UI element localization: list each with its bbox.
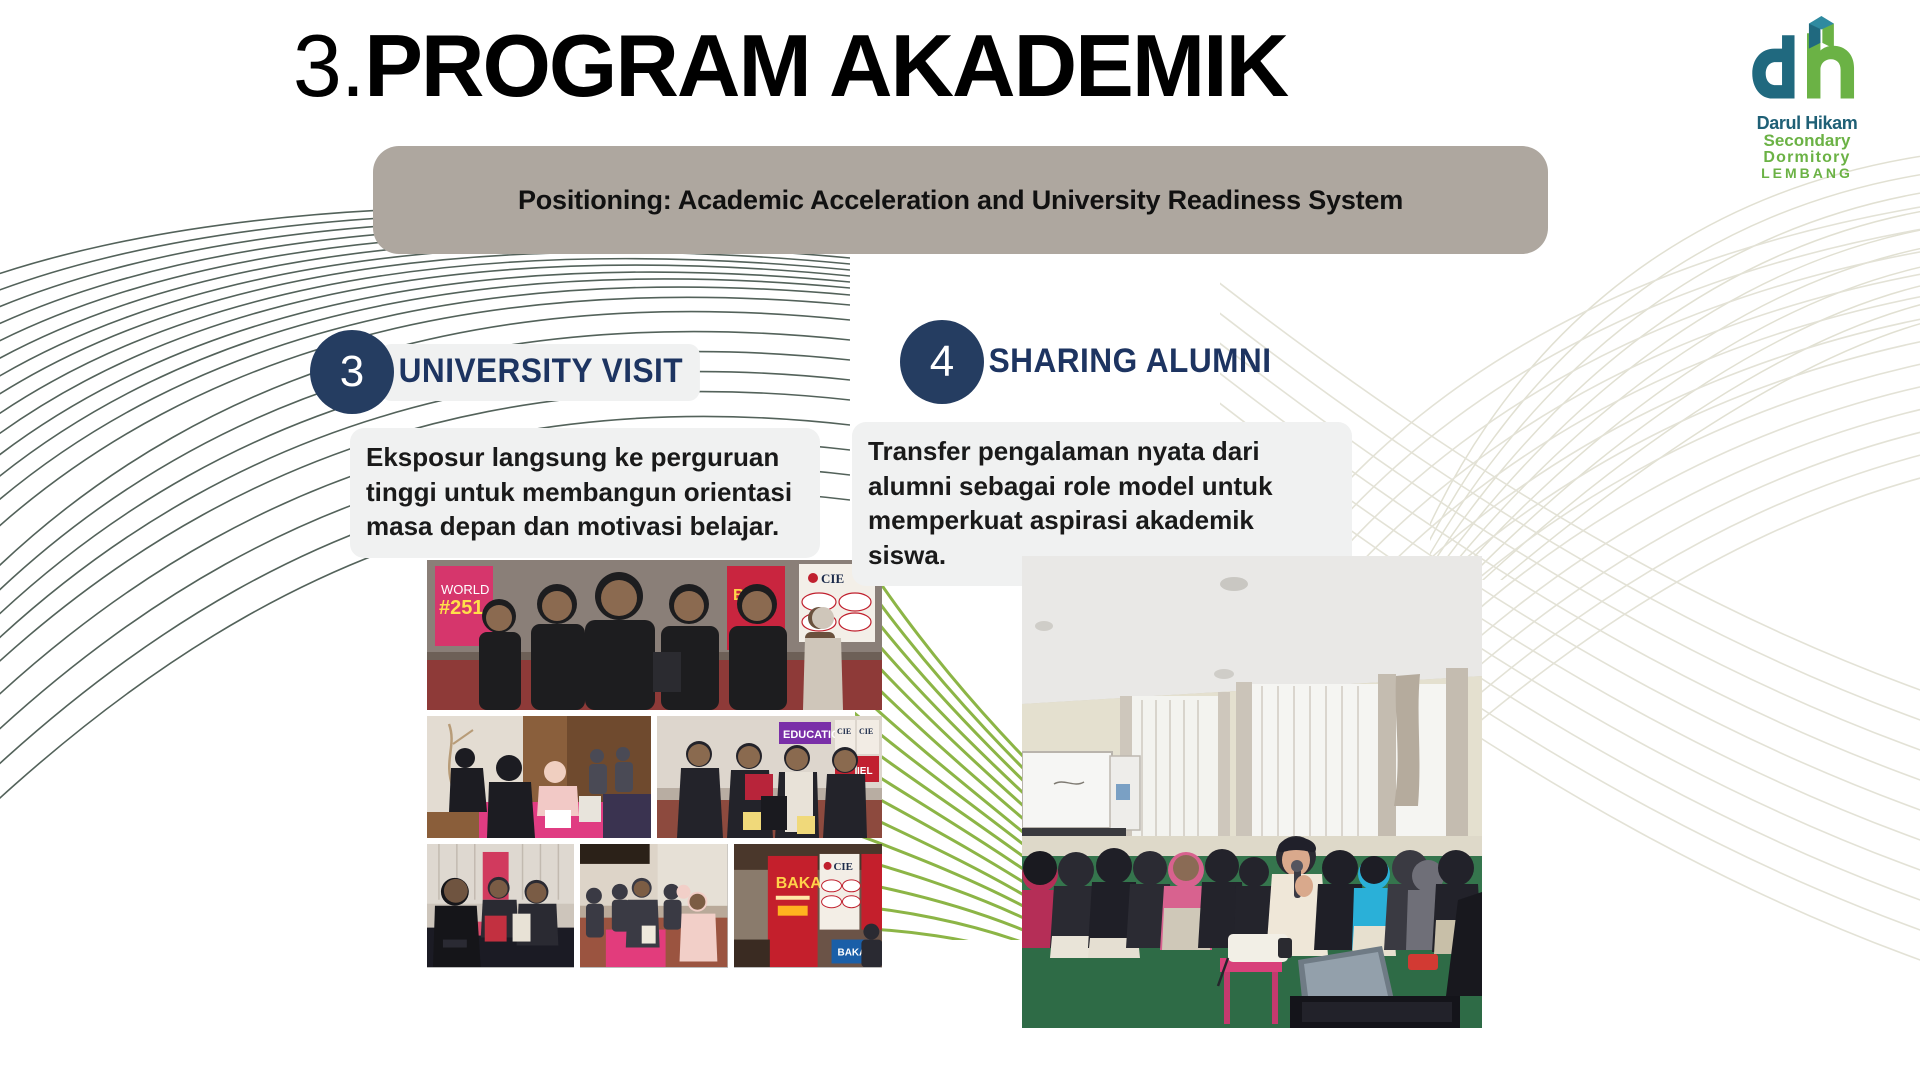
photo-students-with-cie-tote-bags-education-banner: EDUCATION CIE CIE IEL: [657, 716, 882, 838]
section-number-badge-3: 3: [310, 330, 394, 414]
section-4-header: 4 SHARING ALUMNI: [900, 320, 1500, 404]
title-number: 3.: [293, 16, 364, 115]
section-title-university-visit: UNIVERSITY VISIT: [380, 344, 700, 401]
svg-text:#251: #251: [439, 597, 484, 619]
svg-text:CIE: CIE: [821, 571, 844, 586]
logo-line-secondary: Secondary: [1757, 132, 1858, 149]
logo-line-darul-hikam: Darul Hikam: [1757, 114, 1858, 132]
photo-registration-desk-pink-tablecloth: [427, 716, 651, 838]
positioning-banner: Positioning: Academic Acceleration and U…: [373, 146, 1548, 254]
school-logo: Darul Hikam Secondary Dormitory LEMBANG: [1732, 16, 1882, 180]
page-title: 3.PROGRAM AKADEMIK: [0, 22, 1580, 110]
slide-root: 3.PROGRAM AKADEMIK Positioning: Academic…: [0, 0, 1920, 1080]
section-3-header: 3 UNIVERSITY VISIT: [310, 330, 870, 414]
title-main: PROGRAM AKADEMIK: [364, 16, 1287, 115]
darul-hikam-dh-monogram-icon: [1748, 16, 1866, 112]
section-university-visit: 3 UNIVERSITY VISIT Eksposur langsung ke …: [310, 330, 870, 558]
collage-row-3: BAKAT CIE BAKAT: [427, 844, 882, 968]
collage-row-1: WORLD #251 BA CIE: [427, 560, 882, 710]
svg-text:CIE: CIE: [837, 727, 851, 736]
section-number-badge-4: 4: [900, 320, 984, 404]
university-visit-photo-collage: WORLD #251 BA CIE: [427, 560, 882, 974]
svg-text:CIE: CIE: [833, 861, 852, 873]
collage-row-2: EDUCATION CIE CIE IEL: [427, 716, 882, 838]
logo-line-dormitory: Dormitory: [1757, 150, 1858, 166]
positioning-banner-text: Positioning: Academic Acceleration and U…: [492, 185, 1429, 216]
section-sharing-alumni: 4 SHARING ALUMNI Transfer pengalaman nya…: [900, 320, 1500, 586]
photo-bakat-red-banner-cie-booth: BAKAT CIE BAKAT: [734, 844, 882, 968]
section-3-description: Eksposur langsung ke perguruan tinggi un…: [350, 428, 820, 558]
svg-text:WORLD: WORLD: [441, 582, 489, 597]
photo-fair-hall-crowd-pink-booth: [580, 844, 727, 968]
photo-alumni-sharing-session-students-seated-on-green-carpet: [1022, 556, 1482, 1028]
section-title-sharing-alumni: SHARING ALUMNI: [970, 334, 1288, 391]
svg-text:CIE: CIE: [859, 727, 873, 736]
logo-line-lembang: LEMBANG: [1757, 166, 1858, 180]
photo-students-group-at-education-fair-cie-booth: WORLD #251 BA CIE: [427, 560, 882, 710]
photo-counselling-table-consultation: [427, 844, 574, 968]
